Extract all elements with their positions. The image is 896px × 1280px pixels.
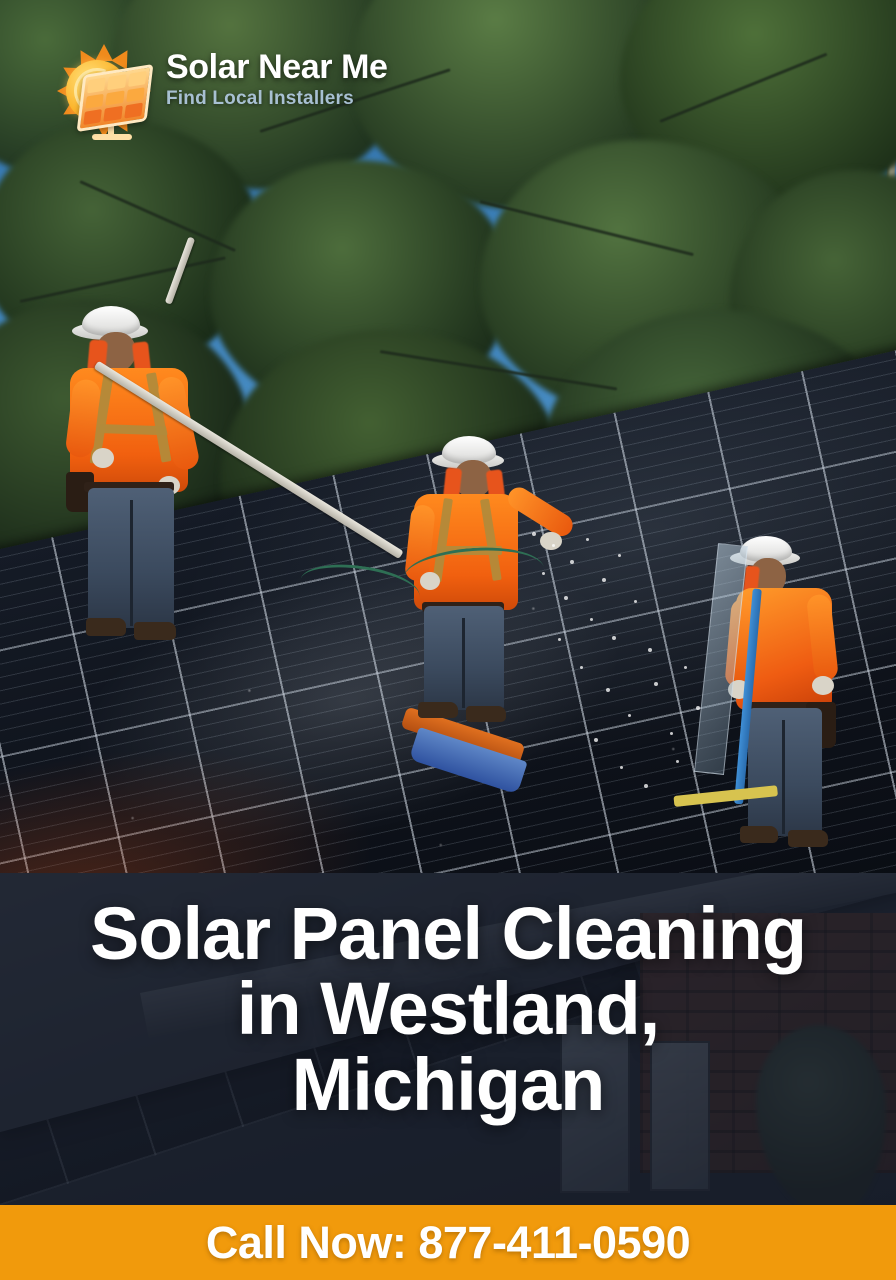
worker-left xyxy=(60,300,260,660)
brand-name: Solar Near Me xyxy=(166,50,388,86)
call-now-label[interactable]: Call Now: 877-411-0590 xyxy=(206,1217,690,1269)
water-spray xyxy=(524,526,724,796)
brand-logo-text: Solar Near Me Find Local Installers xyxy=(166,50,388,110)
panel-base-icon xyxy=(92,134,132,140)
poster-canvas: Solar Near Me Find Local Installers Sola… xyxy=(0,0,896,1280)
page-title-line-1: Solar Panel Cleaning xyxy=(18,896,878,971)
page-title-line-2: in Westland, xyxy=(18,971,878,1046)
page-title: Solar Panel Cleaning in Westland, Michig… xyxy=(0,896,896,1122)
sun-solar-panel-icon xyxy=(44,44,156,136)
brand-tagline: Find Local Installers xyxy=(166,88,388,110)
page-title-line-3: Michigan xyxy=(18,1047,878,1122)
brand-logo[interactable]: Solar Near Me Find Local Installers xyxy=(44,42,424,138)
call-now-bar[interactable]: Call Now: 877-411-0590 xyxy=(0,1205,896,1280)
